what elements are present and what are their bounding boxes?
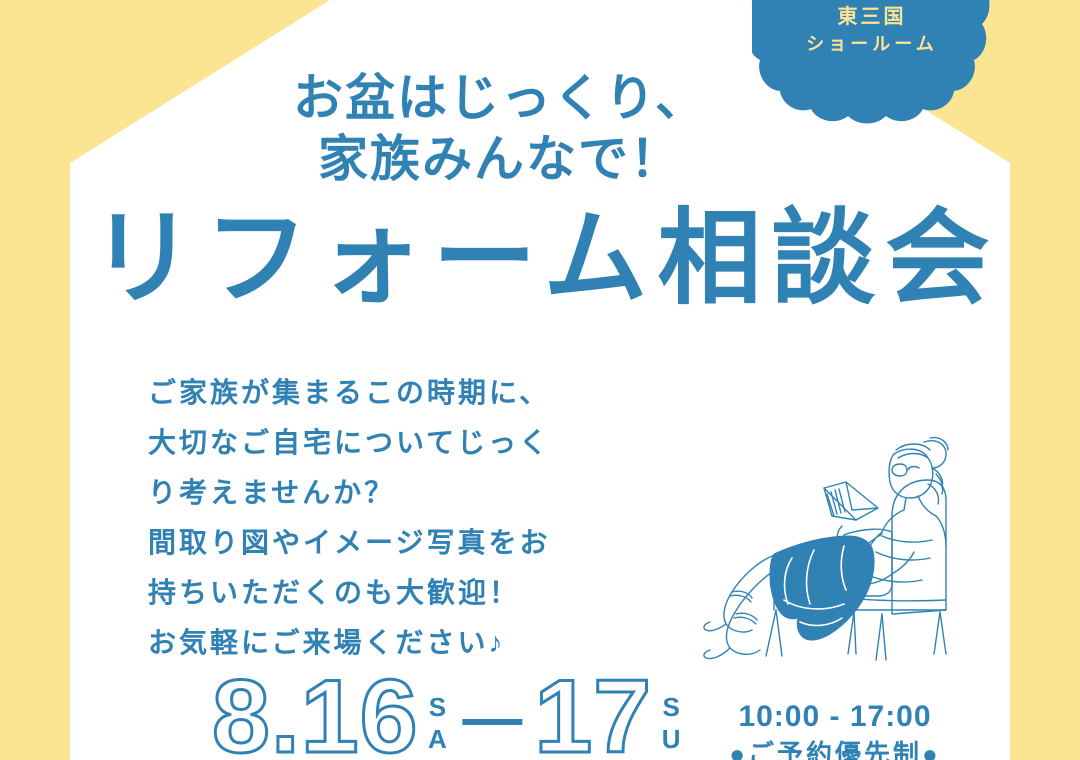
subtitle-line-2: 家族みんなで！	[0, 129, 1000, 190]
woman-reading-in-armchair-illustration	[696, 424, 978, 669]
subtitle: お盆はじっくり、 家族みんなで！	[0, 68, 1000, 190]
date-range-dash: —	[462, 688, 522, 748]
body-line-2: 大切なご自宅についてじっく	[148, 418, 550, 468]
date-start-day-of-week: SAT	[424, 692, 450, 760]
subtitle-line-1: お盆はじっくり、	[0, 68, 1000, 129]
body-copy: ご家族が集まるこの時期に、 大切なご自宅についてじっく り考えませんか？ 間取り…	[148, 368, 550, 668]
date-start: 8.16	[212, 670, 418, 760]
badge-line-2: ショールーム	[752, 32, 992, 57]
badge-text-group: 東三国 ショールーム	[752, 4, 992, 56]
reservation-note: ●ご予約優先制●	[690, 738, 980, 760]
badge-line-1: 東三国	[752, 4, 992, 32]
event-time: 10:00 - 17:00	[690, 698, 980, 736]
body-line-4: 間取り図やイメージ写真をお	[148, 518, 550, 568]
page-title: リフォーム相談会	[0, 205, 1080, 314]
body-line-3: り考えませんか？	[148, 468, 550, 518]
date-end: 17	[534, 670, 652, 760]
event-date-row: 8.16 SAT — 17 SUN	[212, 686, 684, 760]
reform-consultation-flyer: 東三国 ショールーム お盆はじっくり、 家族みんなで！ リフォーム相談会 ご家族…	[0, 0, 1080, 760]
body-line-5: 持ちいただくのも大歓迎！	[148, 568, 550, 618]
body-line-1: ご家族が集まるこの時期に、	[148, 368, 550, 418]
schedule-block: 10:00 - 17:00 ●ご予約優先制●	[690, 698, 980, 760]
date-end-day-of-week: SUN	[658, 692, 684, 760]
